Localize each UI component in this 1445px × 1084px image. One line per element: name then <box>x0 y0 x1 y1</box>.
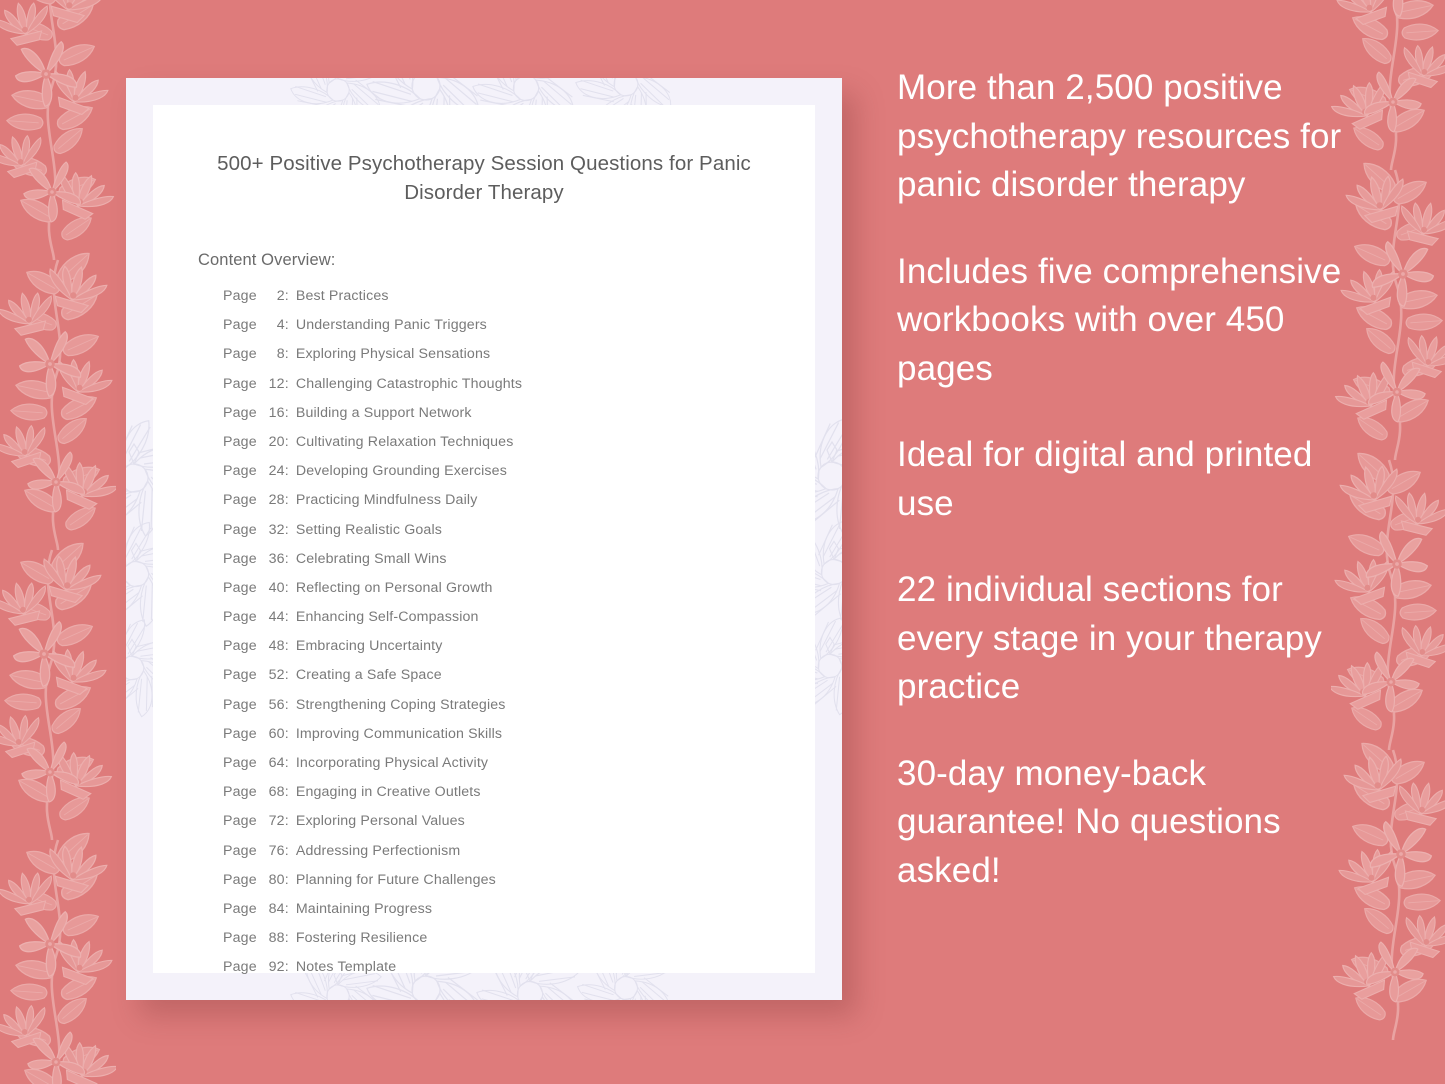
toc-colon: : <box>285 755 289 771</box>
toc-page-word: Page <box>223 638 257 654</box>
toc-entry-title: Enhancing Self-Compassion <box>296 609 479 625</box>
toc-colon: : <box>285 667 289 683</box>
toc-entry-title: Building a Support Network <box>296 405 472 421</box>
toc-page-number: 68 <box>261 784 285 800</box>
toc-page-number: 80 <box>261 872 285 888</box>
toc-page-word: Page <box>223 843 257 859</box>
toc-entry-title: Developing Grounding Exercises <box>296 463 507 479</box>
content-overview-label: Content Overview: <box>198 251 791 270</box>
toc-row: Page 40 : Reflecting on Personal Growth <box>177 580 791 609</box>
toc-page-number: 2 <box>261 288 285 304</box>
toc-colon: : <box>285 492 289 508</box>
toc-page-number: 12 <box>261 376 285 392</box>
toc-row: Page 36 : Celebrating Small Wins <box>177 551 791 580</box>
toc-page-number: 20 <box>261 434 285 450</box>
toc-colon: : <box>285 317 289 333</box>
toc-row: Page 24 : Developing Grounding Exercises <box>177 463 791 492</box>
toc-entry-title: Exploring Personal Values <box>296 813 465 829</box>
toc-page-number: 36 <box>261 551 285 567</box>
toc-colon: : <box>285 930 289 946</box>
toc-page-word: Page <box>223 463 257 479</box>
document-preview-card: 500+ Positive Psychotherapy Session Ques… <box>126 78 842 1000</box>
toc-colon: : <box>285 288 289 304</box>
toc-entry-title: Understanding Panic Triggers <box>296 317 487 333</box>
toc-entry-title: Engaging in Creative Outlets <box>296 784 481 800</box>
toc-page-number: 16 <box>261 405 285 421</box>
toc-colon: : <box>285 959 289 975</box>
toc-row: Page 28 : Practicing Mindfulness Daily <box>177 492 791 521</box>
toc-page-word: Page <box>223 755 257 771</box>
toc-page-number: 52 <box>261 667 285 683</box>
toc-page-word: Page <box>223 434 257 450</box>
document-page: 500+ Positive Psychotherapy Session Ques… <box>153 105 815 973</box>
toc-row: Page 12 : Challenging Catastrophic Thoug… <box>177 376 791 405</box>
toc-colon: : <box>285 551 289 567</box>
toc-page-number: 76 <box>261 843 285 859</box>
toc-row: Page 2 : Best Practices <box>177 288 791 317</box>
toc-row: Page 88 : Fostering Resilience <box>177 930 791 959</box>
toc-row: Page 80 : Planning for Future Challenges <box>177 872 791 901</box>
toc-entry-title: Notes Template <box>296 959 396 975</box>
toc-entry-title: Addressing Perfectionism <box>296 843 460 859</box>
toc-page-word: Page <box>223 492 257 508</box>
toc-entry-title: Planning for Future Challenges <box>296 872 496 888</box>
toc-page-word: Page <box>223 901 257 917</box>
toc-entry-title: Incorporating Physical Activity <box>296 755 488 771</box>
toc-page-word: Page <box>223 813 257 829</box>
page-title: 500+ Positive Psychotherapy Session Ques… <box>207 149 761 207</box>
toc-page-word: Page <box>223 288 257 304</box>
toc-page-number: 24 <box>261 463 285 479</box>
toc-page-number: 32 <box>261 522 285 538</box>
toc-page-word: Page <box>223 346 257 362</box>
toc-page-number: 72 <box>261 813 285 829</box>
toc-entry-title: Cultivating Relaxation Techniques <box>296 434 514 450</box>
toc-row: Page 84 : Maintaining Progress <box>177 901 791 930</box>
toc-page-word: Page <box>223 317 257 333</box>
toc-page-word: Page <box>223 930 257 946</box>
marketing-block: 30-day money-back guarantee! No question… <box>897 750 1357 896</box>
toc-page-number: 28 <box>261 492 285 508</box>
floral-vine-border-left <box>0 0 116 1084</box>
toc-page-word: Page <box>223 405 257 421</box>
toc-colon: : <box>285 580 289 596</box>
toc-entry-title: Celebrating Small Wins <box>296 551 447 567</box>
toc-colon: : <box>285 697 289 713</box>
toc-row: Page 52 : Creating a Safe Space <box>177 667 791 696</box>
toc-colon: : <box>285 609 289 625</box>
toc-page-number: 88 <box>261 930 285 946</box>
toc-entry-title: Exploring Physical Sensations <box>296 346 490 362</box>
marketing-block: More than 2,500 positive psychotherapy r… <box>897 64 1357 210</box>
toc-colon: : <box>285 376 289 392</box>
toc-page-number: 92 <box>261 959 285 975</box>
toc-page-word: Page <box>223 551 257 567</box>
toc-page-number: 56 <box>261 697 285 713</box>
toc-colon: : <box>285 346 289 362</box>
toc-page-number: 8 <box>261 346 285 362</box>
toc-entry-title: Reflecting on Personal Growth <box>296 580 493 596</box>
toc-colon: : <box>285 434 289 450</box>
toc-colon: : <box>285 813 289 829</box>
table-of-contents: Page 2 : Best Practices Page 4 : Underst… <box>177 288 791 989</box>
toc-page-word: Page <box>223 872 257 888</box>
toc-page-word: Page <box>223 580 257 596</box>
toc-row: Page 20 : Cultivating Relaxation Techniq… <box>177 434 791 463</box>
toc-page-number: 40 <box>261 580 285 596</box>
toc-colon: : <box>285 872 289 888</box>
toc-row: Page 8 : Exploring Physical Sensations <box>177 346 791 375</box>
toc-page-number: 60 <box>261 726 285 742</box>
toc-colon: : <box>285 843 289 859</box>
toc-row: Page 92 : Notes Template <box>177 959 791 988</box>
toc-page-word: Page <box>223 959 257 975</box>
toc-page-number: 64 <box>261 755 285 771</box>
toc-row: Page 64 : Incorporating Physical Activit… <box>177 755 791 784</box>
toc-row: Page 32 : Setting Realistic Goals <box>177 522 791 551</box>
marketing-block: Ideal for digital and printed use <box>897 431 1357 528</box>
toc-row: Page 68 : Engaging in Creative Outlets <box>177 784 791 813</box>
toc-colon: : <box>285 463 289 479</box>
toc-entry-title: Challenging Catastrophic Thoughts <box>296 376 522 392</box>
toc-row: Page 72 : Exploring Personal Values <box>177 813 791 842</box>
toc-page-word: Page <box>223 376 257 392</box>
toc-row: Page 4 : Understanding Panic Triggers <box>177 317 791 346</box>
toc-entry-title: Setting Realistic Goals <box>296 522 442 538</box>
toc-page-word: Page <box>223 784 257 800</box>
marketing-block: 22 individual sections for every stage i… <box>897 566 1357 712</box>
toc-colon: : <box>285 901 289 917</box>
toc-entry-title: Creating a Safe Space <box>296 667 442 683</box>
toc-page-number: 44 <box>261 609 285 625</box>
toc-page-number: 84 <box>261 901 285 917</box>
toc-colon: : <box>285 784 289 800</box>
toc-page-word: Page <box>223 667 257 683</box>
marketing-copy-column: More than 2,500 positive psychotherapy r… <box>897 64 1357 895</box>
toc-entry-title: Embracing Uncertainty <box>296 638 443 654</box>
toc-row: Page 48 : Embracing Uncertainty <box>177 638 791 667</box>
toc-row: Page 44 : Enhancing Self-Compassion <box>177 609 791 638</box>
toc-entry-title: Best Practices <box>296 288 389 304</box>
toc-entry-title: Improving Communication Skills <box>296 726 502 742</box>
toc-colon: : <box>285 405 289 421</box>
toc-page-number: 48 <box>261 638 285 654</box>
toc-colon: : <box>285 726 289 742</box>
marketing-block: Includes five comprehensive workbooks wi… <box>897 248 1357 394</box>
toc-row: Page 60 : Improving Communication Skills <box>177 726 791 755</box>
toc-row: Page 76 : Addressing Perfectionism <box>177 843 791 872</box>
toc-entry-title: Practicing Mindfulness Daily <box>296 492 478 508</box>
toc-colon: : <box>285 522 289 538</box>
toc-row: Page 16 : Building a Support Network <box>177 405 791 434</box>
toc-page-word: Page <box>223 726 257 742</box>
toc-entry-title: Maintaining Progress <box>296 901 432 917</box>
toc-entry-title: Strengthening Coping Strategies <box>296 697 506 713</box>
toc-page-number: 4 <box>261 317 285 333</box>
toc-page-word: Page <box>223 697 257 713</box>
toc-entry-title: Fostering Resilience <box>296 930 428 946</box>
toc-page-word: Page <box>223 522 257 538</box>
toc-page-word: Page <box>223 609 257 625</box>
toc-colon: : <box>285 638 289 654</box>
toc-row: Page 56 : Strengthening Coping Strategie… <box>177 697 791 726</box>
